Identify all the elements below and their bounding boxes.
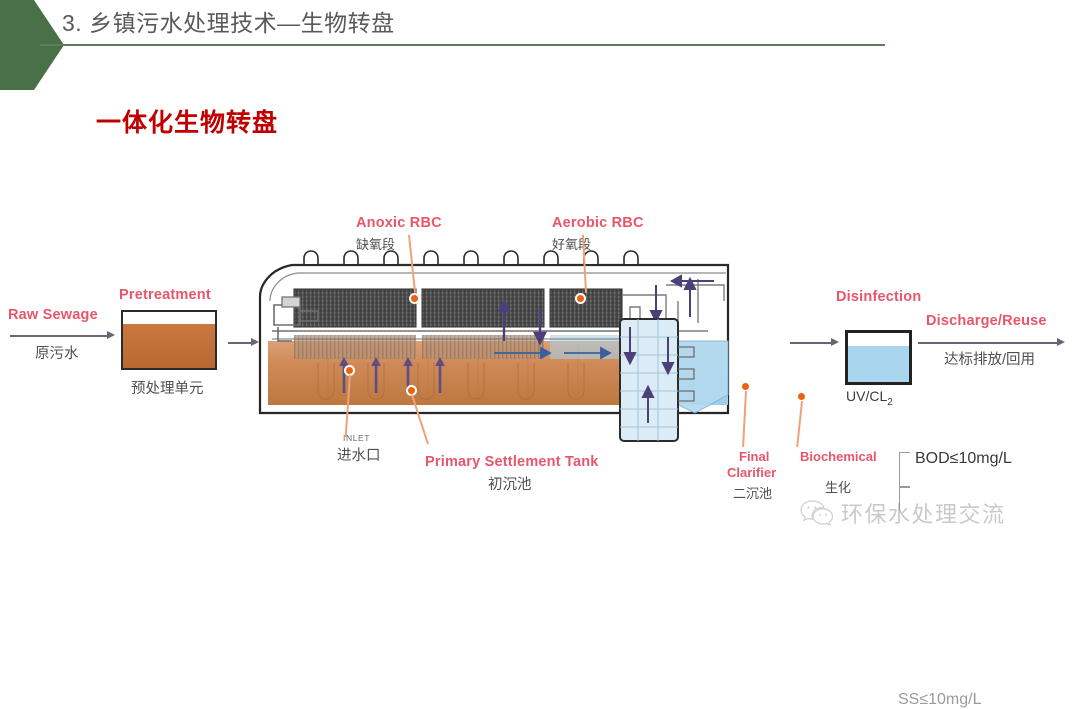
discharge-arrow-head <box>1057 338 1065 346</box>
watermark-text: 环保水处理交流 <box>841 497 1006 529</box>
primary-settlement-label-cn: 初沉池 <box>488 473 532 494</box>
ss-spec-label: SS≤10mg/L <box>898 691 982 709</box>
slide-header: 3. 乡镇污水处理技术—生物转盘 <box>0 0 1080 56</box>
raw-sewage-label-cn: 原污水 <box>35 342 79 363</box>
disinfection-method-text: UV/CL <box>846 388 887 404</box>
final-clarifier-label-cn: 二沉池 <box>733 483 772 502</box>
discharge-label-en: Discharge/Reuse <box>926 313 1047 329</box>
anoxic-rbc-label-cn: 缺氧段 <box>356 234 395 253</box>
disinfection-water-fill <box>848 346 909 382</box>
pretreatment-sewage-fill <box>123 324 215 368</box>
tank-to-disinfection-arrow-line <box>790 342 832 344</box>
biochemical-label-en: Biochemical <box>800 449 877 464</box>
disinfection-label-en: Disinfection <box>836 289 921 305</box>
tank-to-disinfection-arrow-head <box>831 338 839 346</box>
final-clarifier-label-en-l2: Clarifier <box>727 465 776 480</box>
process-flow-diagram: Raw Sewage 原污水 Pretreatment 预处理单元 <box>0 185 1080 525</box>
section-subtitle: 一体化生物转盘 <box>96 103 278 139</box>
bod-spec-label: BOD≤10mg/L <box>915 450 1012 468</box>
discharge-arrow-line <box>918 342 1058 344</box>
disinfection-tank <box>845 330 912 385</box>
pretreatment-to-tank-arrow-line <box>228 342 252 344</box>
header-divider <box>40 44 885 46</box>
biochemical-module <box>612 313 702 453</box>
inlet-label-en: INLET <box>343 433 370 443</box>
disinfection-method-label: UV/CL2 <box>846 388 893 408</box>
aerobic-rbc-label-cn: 好氧段 <box>552 234 591 253</box>
biochemical-label-cn: 生化 <box>825 477 851 496</box>
final-clarifier-label-en-l1: Final <box>739 449 769 464</box>
wechat-watermark: 环保水处理交流 <box>800 497 1006 529</box>
raw-sewage-label-en: Raw Sewage <box>8 307 98 323</box>
biochemical-leader-line <box>796 401 802 447</box>
wechat-icon <box>800 499 834 527</box>
pretreatment-label-cn: 预处理单元 <box>131 377 204 398</box>
discharge-label-cn: 达标排放/回用 <box>944 348 1035 369</box>
effluent-spec-bracket-tick <box>899 486 910 488</box>
aerobic-rbc-marker <box>575 293 586 304</box>
raw-sewage-arrow-head <box>107 331 115 339</box>
disinfection-method-subscript: 2 <box>887 397 893 408</box>
anoxic-rbc-label-en: Anoxic RBC <box>356 215 442 231</box>
anoxic-rbc-marker <box>409 293 420 304</box>
page-title: 3. 乡镇污水处理技术—生物转盘 <box>62 4 395 38</box>
primary-settlement-label-en: Primary Settlement Tank <box>425 454 599 470</box>
integrated-rbc-tank <box>258 245 758 430</box>
pretreatment-label-en: Pretreatment <box>119 287 211 303</box>
raw-sewage-arrow-line <box>10 335 108 337</box>
pretreatment-tank <box>121 310 217 370</box>
aerobic-rbc-label-en: Aerobic RBC <box>552 215 644 231</box>
inlet-label-cn: 进水口 <box>337 444 381 465</box>
